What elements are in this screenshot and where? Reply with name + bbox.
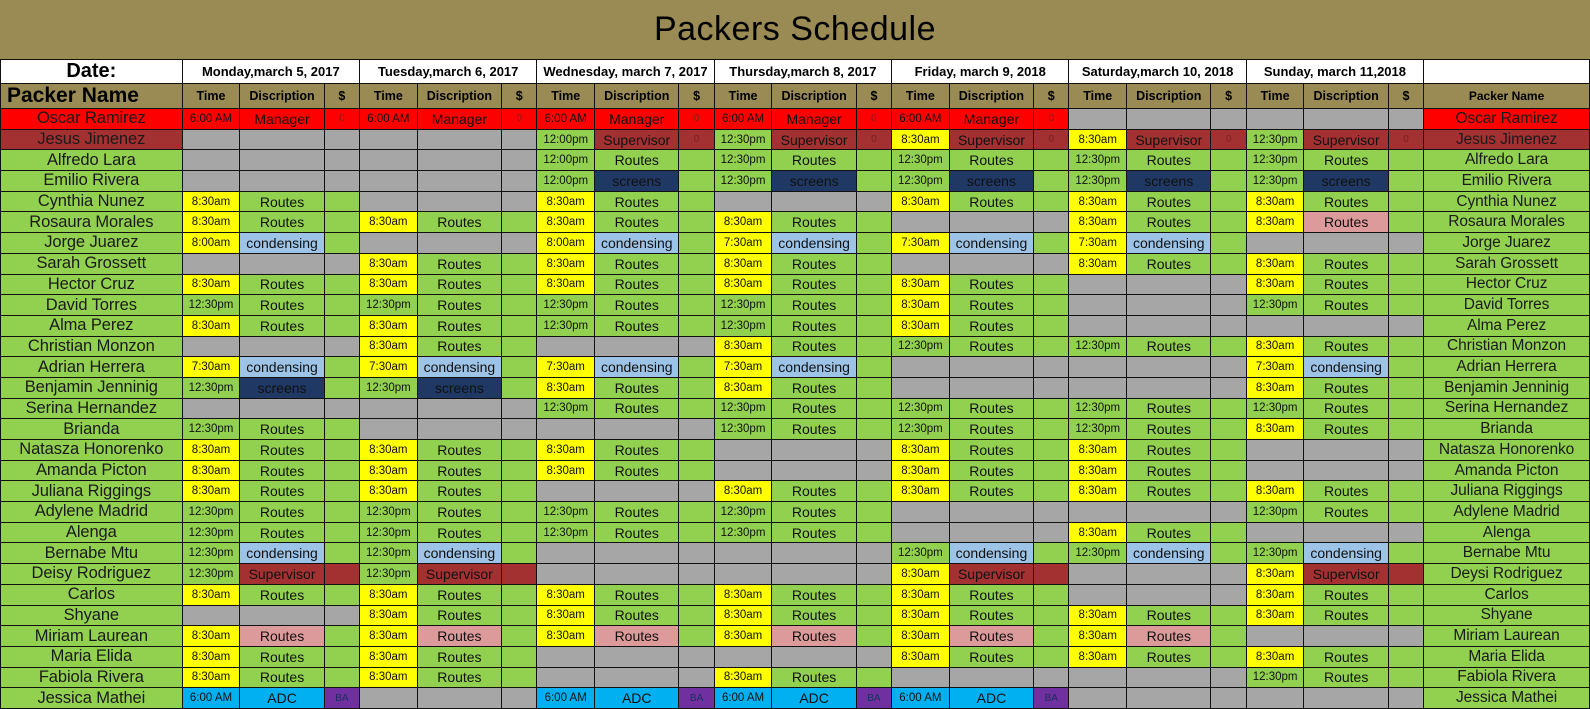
packer-name-cell[interactable]: Alenga	[1, 522, 183, 543]
subheader-dollar-day1[interactable]: $	[324, 84, 359, 109]
cell-discription-day1[interactable]: Routes	[240, 460, 324, 481]
cell-discription-day7[interactable]: condensing	[1304, 357, 1388, 378]
cell-dollar-day3[interactable]	[679, 522, 714, 543]
packer-name-cell[interactable]: Jesus Jimenez	[1, 129, 183, 150]
cell-dollar-day5[interactable]	[1034, 667, 1069, 688]
subheader-discription-day5[interactable]: Discription	[949, 84, 1033, 109]
cell-time-day5[interactable]: 12:30pm	[892, 543, 950, 564]
cell-discription-day7[interactable]: Routes	[1304, 253, 1388, 274]
cell-discription-day3[interactable]: Routes	[595, 150, 679, 171]
cell-time-day3[interactable]: 8:00am	[537, 233, 595, 254]
cell-time-day7[interactable]: 12:30pm	[1246, 398, 1304, 419]
cell-dollar-day3[interactable]	[679, 377, 714, 398]
cell-time-day5[interactable]: 8:30am	[892, 605, 950, 626]
subheader-dollar-day5[interactable]: $	[1034, 84, 1069, 109]
cell-dollar-day6[interactable]	[1211, 377, 1246, 398]
cell-time-day1[interactable]: 6:00 AM	[182, 688, 240, 709]
packer-name-cell[interactable]: Carlos	[1, 584, 183, 605]
cell-time-day7[interactable]: 8:30am	[1246, 646, 1304, 667]
cell-time-day4[interactable]	[714, 646, 772, 667]
cell-time-day7[interactable]: 8:30am	[1246, 605, 1304, 626]
cell-time-day7[interactable]: 8:30am	[1246, 377, 1304, 398]
cell-time-day5[interactable]	[892, 212, 950, 233]
cell-discription-day4[interactable]: Routes	[772, 584, 856, 605]
cell-dollar-day6[interactable]	[1211, 274, 1246, 295]
cell-discription-day7[interactable]: Routes	[1304, 336, 1388, 357]
cell-time-day2[interactable]	[360, 233, 418, 254]
packer-name-cell-right[interactable]: Shyane	[1424, 605, 1590, 626]
packer-name-cell[interactable]: Emilio Rivera	[1, 171, 183, 192]
cell-discription-day1[interactable]: Routes	[240, 191, 324, 212]
cell-discription-day2[interactable]: Routes	[417, 440, 501, 461]
cell-time-day3[interactable]: 8:30am	[537, 460, 595, 481]
cell-time-day4[interactable]: 12:30pm	[714, 150, 772, 171]
cell-time-day7[interactable]: 8:30am	[1246, 191, 1304, 212]
cell-time-day5[interactable]: 8:30am	[892, 295, 950, 316]
cell-dollar-day1[interactable]: 0	[324, 109, 359, 130]
cell-dollar-day5[interactable]	[1034, 357, 1069, 378]
cell-time-day4[interactable]: 8:30am	[714, 253, 772, 274]
cell-time-day6[interactable]: 8:30am	[1069, 626, 1127, 647]
cell-dollar-day6[interactable]	[1211, 357, 1246, 378]
cell-dollar-day3[interactable]: 0	[679, 129, 714, 150]
cell-time-day2[interactable]: 8:30am	[360, 667, 418, 688]
cell-time-day6[interactable]: 12:30pm	[1069, 150, 1127, 171]
cell-dollar-day1[interactable]	[324, 564, 359, 585]
cell-discription-day3[interactable]	[595, 419, 679, 440]
cell-discription-day2[interactable]: Routes	[417, 646, 501, 667]
cell-time-day1[interactable]: 8:30am	[182, 626, 240, 647]
cell-time-day2[interactable]: 12:30pm	[360, 377, 418, 398]
cell-dollar-day5[interactable]	[1034, 274, 1069, 295]
packer-name-cell-right[interactable]: Bernabe Mtu	[1424, 543, 1590, 564]
cell-discription-day5[interactable]: condensing	[949, 233, 1033, 254]
cell-discription-day5[interactable]: Routes	[949, 315, 1033, 336]
cell-discription-day7[interactable]	[1304, 626, 1388, 647]
cell-dollar-day1[interactable]: BA	[324, 688, 359, 709]
cell-discription-day4[interactable]: Routes	[772, 336, 856, 357]
cell-time-day5[interactable]: 6:00 AM	[892, 109, 950, 130]
packer-name-cell[interactable]: Rosaura Morales	[1, 212, 183, 233]
subheader-time-day2[interactable]: Time	[360, 84, 418, 109]
cell-discription-day1[interactable]: ADC	[240, 688, 324, 709]
cell-discription-day6[interactable]: condensing	[1127, 233, 1211, 254]
cell-discription-day1[interactable]	[240, 129, 324, 150]
cell-time-day7[interactable]	[1246, 233, 1304, 254]
day-header-4[interactable]: Thursday,march 8, 2017	[714, 60, 891, 84]
cell-dollar-day5[interactable]	[1034, 481, 1069, 502]
cell-discription-day3[interactable]: Routes	[595, 191, 679, 212]
cell-discription-day5[interactable]: Routes	[949, 274, 1033, 295]
cell-time-day5[interactable]: 8:30am	[892, 646, 950, 667]
cell-discription-day6[interactable]	[1127, 667, 1211, 688]
cell-time-day4[interactable]: 7:30am	[714, 233, 772, 254]
cell-dollar-day3[interactable]	[679, 336, 714, 357]
cell-dollar-day5[interactable]	[1034, 171, 1069, 192]
cell-time-day2[interactable]: 7:30am	[360, 357, 418, 378]
cell-dollar-day7[interactable]	[1388, 626, 1423, 647]
cell-time-day1[interactable]: 12:30pm	[182, 502, 240, 523]
cell-dollar-day1[interactable]	[324, 502, 359, 523]
cell-discription-day2[interactable]: Routes	[417, 336, 501, 357]
cell-time-day4[interactable]	[714, 460, 772, 481]
cell-time-day3[interactable]	[537, 481, 595, 502]
cell-time-day2[interactable]: 8:30am	[360, 481, 418, 502]
cell-dollar-day2[interactable]	[502, 295, 537, 316]
cell-time-day7[interactable]: 8:30am	[1246, 584, 1304, 605]
cell-dollar-day4[interactable]	[856, 398, 891, 419]
cell-discription-day6[interactable]	[1127, 295, 1211, 316]
cell-discription-day4[interactable]: Routes	[772, 419, 856, 440]
cell-discription-day1[interactable]	[240, 605, 324, 626]
cell-time-day7[interactable]: 12:30pm	[1246, 667, 1304, 688]
cell-time-day4[interactable]: 8:30am	[714, 274, 772, 295]
cell-time-day5[interactable]	[892, 253, 950, 274]
cell-discription-day6[interactable]	[1127, 377, 1211, 398]
cell-discription-day5[interactable]	[949, 522, 1033, 543]
cell-dollar-day5[interactable]	[1034, 502, 1069, 523]
cell-dollar-day3[interactable]	[679, 150, 714, 171]
cell-time-day5[interactable]: 8:30am	[892, 440, 950, 461]
cell-dollar-day4[interactable]	[856, 336, 891, 357]
packer-name-cell-right[interactable]: Adylene Madrid	[1424, 502, 1590, 523]
cell-discription-day5[interactable]: Manager	[949, 109, 1033, 130]
cell-discription-day5[interactable]: Routes	[949, 626, 1033, 647]
cell-discription-day5[interactable]: screens	[949, 171, 1033, 192]
cell-discription-day3[interactable]	[595, 543, 679, 564]
cell-time-day7[interactable]: 12:30pm	[1246, 171, 1304, 192]
cell-dollar-day5[interactable]	[1034, 584, 1069, 605]
cell-discription-day1[interactable]: Routes	[240, 315, 324, 336]
cell-time-day4[interactable]: 8:30am	[714, 584, 772, 605]
cell-discription-day1[interactable]	[240, 253, 324, 274]
cell-time-day6[interactable]	[1069, 688, 1127, 709]
packer-name-cell-right[interactable]: Amanda Picton	[1424, 460, 1590, 481]
cell-discription-day6[interactable]	[1127, 274, 1211, 295]
cell-discription-day6[interactable]: Routes	[1127, 460, 1211, 481]
cell-discription-day4[interactable]: screens	[772, 171, 856, 192]
cell-time-day2[interactable]: 8:30am	[360, 584, 418, 605]
cell-time-day6[interactable]: 8:30am	[1069, 646, 1127, 667]
cell-discription-day5[interactable]: Routes	[949, 646, 1033, 667]
cell-dollar-day5[interactable]: BA	[1034, 688, 1069, 709]
cell-time-day6[interactable]: 8:30am	[1069, 605, 1127, 626]
cell-time-day5[interactable]: 8:30am	[892, 274, 950, 295]
cell-discription-day3[interactable]: Routes	[595, 605, 679, 626]
cell-time-day4[interactable]: 12:30pm	[714, 171, 772, 192]
cell-time-day2[interactable]	[360, 171, 418, 192]
packer-name-cell-right[interactable]: Natasza Honorenko	[1424, 440, 1590, 461]
cell-dollar-day3[interactable]	[679, 667, 714, 688]
cell-discription-day3[interactable]: Routes	[595, 315, 679, 336]
cell-time-day7[interactable]: 8:30am	[1246, 274, 1304, 295]
cell-discription-day7[interactable]: Routes	[1304, 398, 1388, 419]
day-header-5[interactable]: Friday, march 9, 2018	[892, 60, 1069, 84]
cell-time-day2[interactable]: 6:00 AM	[360, 109, 418, 130]
cell-discription-day6[interactable]: Routes	[1127, 481, 1211, 502]
cell-dollar-day7[interactable]	[1388, 357, 1423, 378]
cell-discription-day4[interactable]	[772, 564, 856, 585]
cell-discription-day4[interactable]: Routes	[772, 377, 856, 398]
subheader-discription-day1[interactable]: Discription	[240, 84, 324, 109]
cell-time-day2[interactable]	[360, 129, 418, 150]
packer-name-cell[interactable]: Alfredo Lara	[1, 150, 183, 171]
cell-time-day6[interactable]: 7:30am	[1069, 233, 1127, 254]
cell-dollar-day3[interactable]	[679, 191, 714, 212]
cell-time-day3[interactable]: 8:30am	[537, 191, 595, 212]
cell-time-day7[interactable]: 12:30pm	[1246, 295, 1304, 316]
cell-time-day7[interactable]: 12:30pm	[1246, 129, 1304, 150]
cell-dollar-day3[interactable]	[679, 398, 714, 419]
cell-discription-day1[interactable]: Supervisor	[240, 564, 324, 585]
packer-name-cell[interactable]: Adrian Herrera	[1, 357, 183, 378]
cell-dollar-day5[interactable]	[1034, 191, 1069, 212]
cell-time-day1[interactable]	[182, 398, 240, 419]
cell-discription-day1[interactable]: Routes	[240, 481, 324, 502]
cell-time-day7[interactable]	[1246, 626, 1304, 647]
cell-dollar-day6[interactable]	[1211, 233, 1246, 254]
cell-dollar-day4[interactable]	[856, 605, 891, 626]
cell-discription-day2[interactable]: Routes	[417, 295, 501, 316]
cell-dollar-day5[interactable]: 0	[1034, 129, 1069, 150]
cell-time-day3[interactable]: 8:30am	[537, 212, 595, 233]
cell-dollar-day1[interactable]	[324, 212, 359, 233]
cell-dollar-day4[interactable]	[856, 667, 891, 688]
cell-discription-day3[interactable]	[595, 667, 679, 688]
packer-name-cell-right[interactable]: David Torres	[1424, 295, 1590, 316]
cell-time-day6[interactable]	[1069, 584, 1127, 605]
cell-discription-day1[interactable]: screens	[240, 377, 324, 398]
cell-time-day5[interactable]: 8:30am	[892, 191, 950, 212]
cell-dollar-day2[interactable]	[502, 129, 537, 150]
cell-time-day5[interactable]	[892, 502, 950, 523]
cell-discription-day4[interactable]	[772, 460, 856, 481]
cell-dollar-day4[interactable]: 0	[856, 129, 891, 150]
cell-time-day1[interactable]: 8:30am	[182, 315, 240, 336]
cell-discription-day6[interactable]: Routes	[1127, 419, 1211, 440]
cell-discription-day2[interactable]: Routes	[417, 212, 501, 233]
cell-discription-day3[interactable]: Routes	[595, 295, 679, 316]
cell-dollar-day5[interactable]	[1034, 150, 1069, 171]
cell-discription-day1[interactable]	[240, 150, 324, 171]
cell-time-day1[interactable]: 8:00am	[182, 233, 240, 254]
subheader-dollar-day6[interactable]: $	[1211, 84, 1246, 109]
cell-discription-day4[interactable]: Routes	[772, 502, 856, 523]
cell-discription-day6[interactable]: Routes	[1127, 212, 1211, 233]
cell-discription-day6[interactable]	[1127, 357, 1211, 378]
cell-discription-day3[interactable]: screens	[595, 171, 679, 192]
cell-time-day3[interactable]: 12:00pm	[537, 150, 595, 171]
cell-discription-day5[interactable]	[949, 377, 1033, 398]
cell-discription-day1[interactable]: Routes	[240, 626, 324, 647]
cell-dollar-day6[interactable]	[1211, 481, 1246, 502]
cell-dollar-day2[interactable]	[502, 522, 537, 543]
cell-discription-day2[interactable]: Routes	[417, 253, 501, 274]
cell-discription-day7[interactable]: Routes	[1304, 667, 1388, 688]
cell-discription-day2[interactable]	[417, 398, 501, 419]
packer-name-cell[interactable]: Alma Perez	[1, 315, 183, 336]
cell-dollar-day6[interactable]	[1211, 564, 1246, 585]
cell-discription-day6[interactable]: Routes	[1127, 522, 1211, 543]
cell-dollar-day3[interactable]	[679, 295, 714, 316]
packer-name-cell[interactable]: Hector Cruz	[1, 274, 183, 295]
cell-dollar-day2[interactable]	[502, 440, 537, 461]
cell-time-day5[interactable]: 8:30am	[892, 129, 950, 150]
cell-dollar-day4[interactable]	[856, 522, 891, 543]
cell-discription-day7[interactable]	[1304, 440, 1388, 461]
cell-discription-day2[interactable]	[417, 419, 501, 440]
cell-dollar-day6[interactable]	[1211, 522, 1246, 543]
cell-time-day4[interactable]: 8:30am	[714, 212, 772, 233]
cell-discription-day5[interactable]: Routes	[949, 460, 1033, 481]
cell-time-day5[interactable]: 7:30am	[892, 233, 950, 254]
cell-dollar-day2[interactable]	[502, 688, 537, 709]
packer-name-cell[interactable]: Amanda Picton	[1, 460, 183, 481]
cell-dollar-day6[interactable]	[1211, 398, 1246, 419]
cell-dollar-day2[interactable]	[502, 626, 537, 647]
cell-time-day4[interactable]: 12:30pm	[714, 315, 772, 336]
packer-name-cell[interactable]: Bernabe Mtu	[1, 543, 183, 564]
cell-discription-day5[interactable]: Routes	[949, 398, 1033, 419]
cell-dollar-day6[interactable]	[1211, 171, 1246, 192]
cell-dollar-day5[interactable]	[1034, 543, 1069, 564]
cell-time-day7[interactable]	[1246, 440, 1304, 461]
cell-discription-day7[interactable]: condensing	[1304, 543, 1388, 564]
cell-dollar-day6[interactable]	[1211, 191, 1246, 212]
cell-time-day6[interactable]: 8:30am	[1069, 253, 1127, 274]
cell-discription-day7[interactable]: Routes	[1304, 295, 1388, 316]
cell-dollar-day1[interactable]	[324, 460, 359, 481]
packer-name-cell-right[interactable]: Juliana Riggings	[1424, 481, 1590, 502]
cell-discription-day3[interactable]: Routes	[595, 398, 679, 419]
cell-dollar-day7[interactable]	[1388, 543, 1423, 564]
cell-dollar-day1[interactable]	[324, 129, 359, 150]
cell-dollar-day2[interactable]	[502, 253, 537, 274]
cell-dollar-day6[interactable]	[1211, 212, 1246, 233]
packer-name-cell-right[interactable]: Serina Hernandez	[1424, 398, 1590, 419]
cell-dollar-day4[interactable]: BA	[856, 688, 891, 709]
cell-time-day4[interactable]	[714, 564, 772, 585]
cell-discription-day3[interactable]	[595, 646, 679, 667]
cell-discription-day6[interactable]	[1127, 688, 1211, 709]
cell-dollar-day3[interactable]	[679, 315, 714, 336]
cell-discription-day1[interactable]	[240, 171, 324, 192]
packer-name-cell-right[interactable]: Jorge Juarez	[1424, 233, 1590, 254]
cell-dollar-day7[interactable]: 0	[1388, 129, 1423, 150]
cell-time-day7[interactable]	[1246, 315, 1304, 336]
cell-discription-day7[interactable]: Routes	[1304, 502, 1388, 523]
cell-time-day5[interactable]: 8:30am	[892, 315, 950, 336]
cell-discription-day3[interactable]: Routes	[595, 274, 679, 295]
cell-discription-day3[interactable]: Supervisor	[595, 129, 679, 150]
packer-name-cell[interactable]: Miriam Laurean	[1, 626, 183, 647]
cell-dollar-day6[interactable]	[1211, 605, 1246, 626]
cell-discription-day7[interactable]	[1304, 522, 1388, 543]
cell-time-day6[interactable]: 8:30am	[1069, 212, 1127, 233]
cell-time-day3[interactable]	[537, 419, 595, 440]
cell-dollar-day5[interactable]	[1034, 212, 1069, 233]
cell-time-day7[interactable]: 8:30am	[1246, 212, 1304, 233]
cell-discription-day5[interactable]: Routes	[949, 419, 1033, 440]
cell-time-day2[interactable]: 8:30am	[360, 646, 418, 667]
cell-time-day6[interactable]: 12:30pm	[1069, 543, 1127, 564]
cell-time-day2[interactable]	[360, 688, 418, 709]
cell-discription-day4[interactable]: Routes	[772, 398, 856, 419]
cell-dollar-day4[interactable]	[856, 646, 891, 667]
cell-discription-day6[interactable]: Routes	[1127, 398, 1211, 419]
cell-discription-day2[interactable]: Routes	[417, 667, 501, 688]
cell-time-day4[interactable]: 6:00 AM	[714, 688, 772, 709]
cell-discription-day3[interactable]: Routes	[595, 626, 679, 647]
cell-discription-day5[interactable]: Routes	[949, 295, 1033, 316]
cell-discription-day3[interactable]	[595, 564, 679, 585]
subheader-dollar-day3[interactable]: $	[679, 84, 714, 109]
cell-time-day3[interactable]	[537, 667, 595, 688]
cell-dollar-day7[interactable]	[1388, 109, 1423, 130]
cell-discription-day4[interactable]: Routes	[772, 274, 856, 295]
cell-dollar-day7[interactable]	[1388, 667, 1423, 688]
cell-time-day4[interactable]	[714, 543, 772, 564]
cell-dollar-day6[interactable]	[1211, 688, 1246, 709]
cell-dollar-day6[interactable]	[1211, 150, 1246, 171]
cell-time-day7[interactable]: 12:30pm	[1246, 150, 1304, 171]
cell-dollar-day4[interactable]	[856, 626, 891, 647]
cell-time-day3[interactable]: 8:30am	[537, 377, 595, 398]
cell-dollar-day4[interactable]	[856, 502, 891, 523]
cell-discription-day5[interactable]: ADC	[949, 688, 1033, 709]
cell-dollar-day4[interactable]	[856, 315, 891, 336]
cell-time-day4[interactable]: 12:30pm	[714, 502, 772, 523]
cell-time-day5[interactable]	[892, 377, 950, 398]
cell-discription-day3[interactable]: ADC	[595, 688, 679, 709]
cell-dollar-day5[interactable]	[1034, 233, 1069, 254]
cell-discription-day7[interactable]	[1304, 109, 1388, 130]
cell-discription-day5[interactable]: condensing	[949, 543, 1033, 564]
cell-dollar-day2[interactable]	[502, 336, 537, 357]
cell-discription-day2[interactable]: Supervisor	[417, 564, 501, 585]
cell-dollar-day1[interactable]	[324, 522, 359, 543]
cell-discription-day5[interactable]	[949, 502, 1033, 523]
cell-time-day5[interactable]: 8:30am	[892, 626, 950, 647]
cell-dollar-day2[interactable]	[502, 481, 537, 502]
cell-dollar-day6[interactable]	[1211, 253, 1246, 274]
cell-dollar-day6[interactable]: 0	[1211, 129, 1246, 150]
cell-discription-day4[interactable]: ADC	[772, 688, 856, 709]
cell-time-day3[interactable]: 12:00pm	[537, 171, 595, 192]
cell-dollar-day1[interactable]	[324, 646, 359, 667]
cell-discription-day2[interactable]: condensing	[417, 357, 501, 378]
cell-time-day5[interactable]: 12:30pm	[892, 336, 950, 357]
cell-dollar-day4[interactable]	[856, 274, 891, 295]
packer-name-cell-right[interactable]: Maria Elida	[1424, 646, 1590, 667]
cell-time-day1[interactable]: 8:30am	[182, 481, 240, 502]
cell-time-day7[interactable]	[1246, 109, 1304, 130]
cell-time-day5[interactable]	[892, 522, 950, 543]
cell-time-day2[interactable]	[360, 398, 418, 419]
cell-dollar-day1[interactable]	[324, 377, 359, 398]
cell-dollar-day6[interactable]	[1211, 460, 1246, 481]
cell-time-day7[interactable]: 8:30am	[1246, 564, 1304, 585]
cell-dollar-day5[interactable]	[1034, 377, 1069, 398]
cell-time-day2[interactable]: 8:30am	[360, 253, 418, 274]
cell-discription-day1[interactable]: condensing	[240, 233, 324, 254]
cell-discription-day1[interactable]: Routes	[240, 274, 324, 295]
cell-dollar-day5[interactable]	[1034, 646, 1069, 667]
cell-discription-day2[interactable]: Routes	[417, 626, 501, 647]
cell-discription-day1[interactable]: Routes	[240, 502, 324, 523]
cell-discription-day7[interactable]: screens	[1304, 171, 1388, 192]
cell-dollar-day3[interactable]	[679, 440, 714, 461]
